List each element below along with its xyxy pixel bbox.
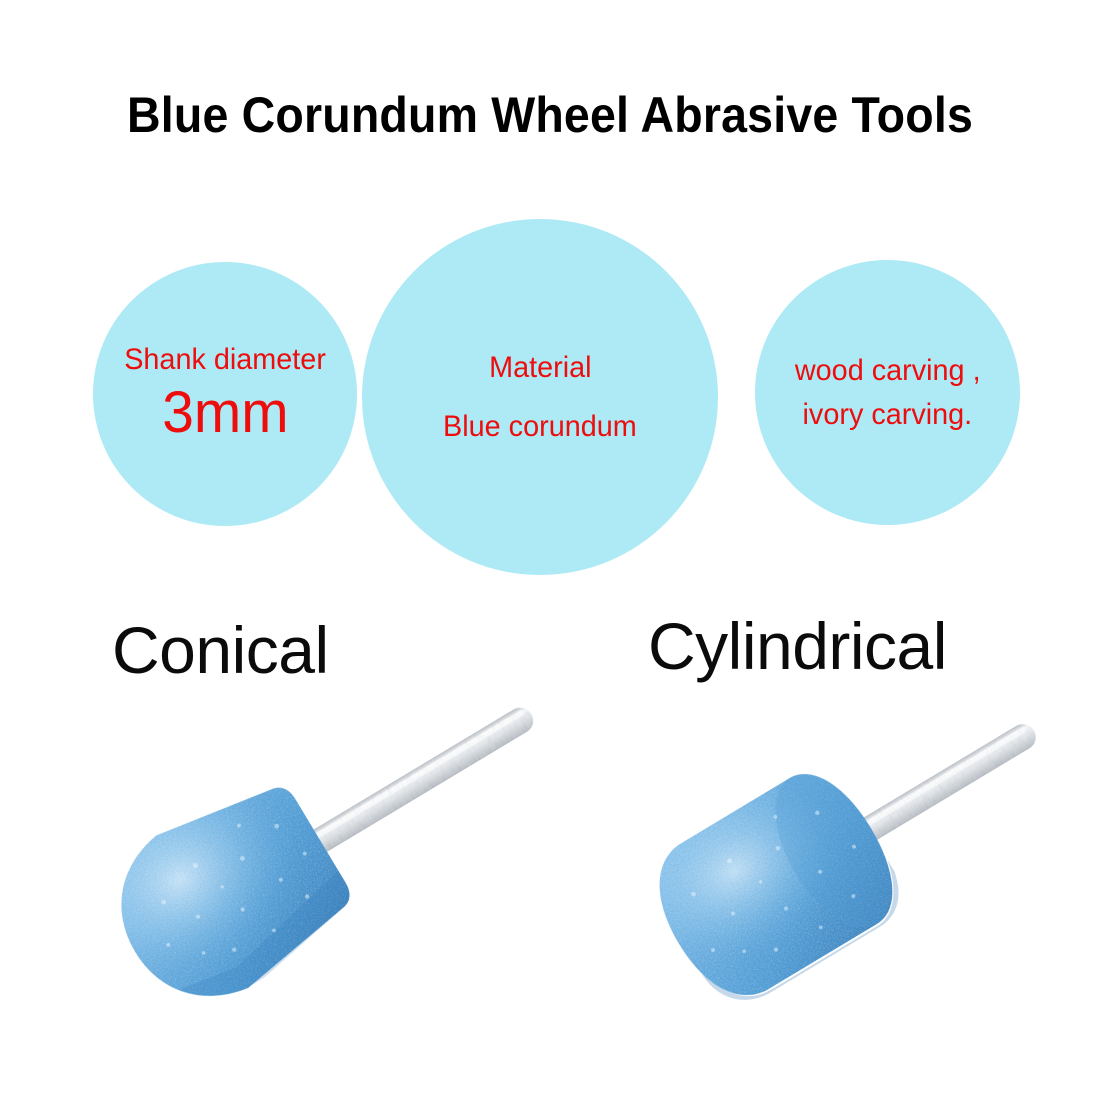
cylindrical-burr-icon bbox=[600, 670, 1080, 1070]
feature-circle-shank-diameter: Shank diameter 3mm bbox=[93, 262, 357, 526]
conical-burr-icon bbox=[20, 670, 600, 1070]
product-infographic: Blue Corundum Wheel Abrasive Tools Shank… bbox=[0, 0, 1100, 1100]
feature-circle-application: wood carving , ivory carving. bbox=[755, 260, 1020, 525]
cylindrical-burr-image bbox=[600, 670, 1080, 1070]
feature-material-line1: Material bbox=[489, 352, 591, 384]
feature-circle-material: Material Blue corundum bbox=[362, 219, 718, 575]
feature-application-line2: ivory carving. bbox=[803, 399, 973, 431]
feature-material-value: Blue corundum bbox=[443, 411, 637, 443]
feature-shank-diameter-value: 3mm bbox=[162, 383, 288, 444]
page-title: Blue Corundum Wheel Abrasive Tools bbox=[39, 86, 1062, 144]
conical-burr-image bbox=[20, 670, 600, 1070]
feature-shank-diameter-line1: Shank diameter bbox=[124, 344, 326, 376]
feature-application-line1: wood carving , bbox=[795, 355, 981, 387]
